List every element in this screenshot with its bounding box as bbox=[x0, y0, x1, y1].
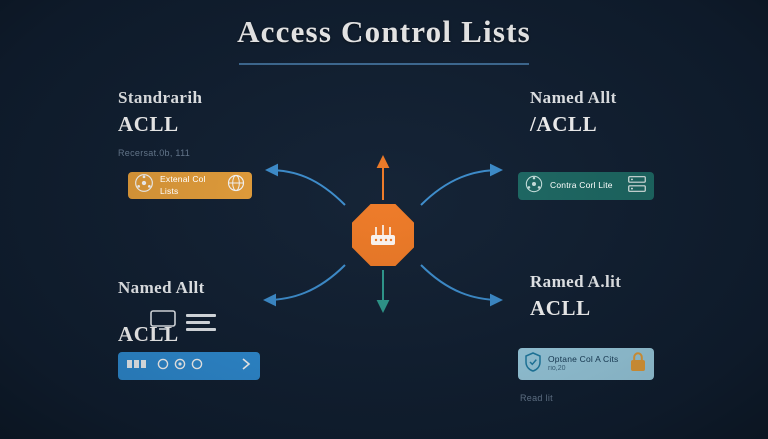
page-title: Access Control Lists bbox=[0, 14, 768, 50]
chevron-right-icon bbox=[240, 357, 252, 376]
quadrant-tr-heading: Named Allt bbox=[530, 88, 768, 108]
card-control-list[interactable]: Contra Corl Lite bbox=[518, 172, 654, 200]
card-optane-control-list[interactable]: Optane Col A Cits rio,20 bbox=[518, 348, 654, 380]
card-tl-label: Extenal Col Lists bbox=[160, 174, 220, 197]
globe-icon bbox=[226, 173, 246, 198]
port-indicator-icon bbox=[157, 357, 209, 376]
list-lines-icon bbox=[186, 314, 216, 331]
quadrant-named-acl-top: Named Allt /ACLL bbox=[530, 88, 768, 137]
lock-icon bbox=[628, 351, 648, 378]
quadrant-br-note: Read lit bbox=[520, 393, 553, 403]
network-node-icon bbox=[134, 173, 154, 198]
card-network-switch[interactable] bbox=[118, 352, 260, 380]
quadrant-tl-subheading: ACLL bbox=[118, 112, 418, 137]
quadrant-tl-heading: Standrarih bbox=[118, 88, 418, 108]
card-br-sublabel: rio,20 bbox=[548, 365, 619, 374]
device-group-bottom-left bbox=[150, 310, 216, 335]
title-underline bbox=[239, 63, 529, 65]
network-switch-icon bbox=[126, 357, 148, 376]
card-tr-label: Contra Corl Lite bbox=[550, 180, 613, 191]
card-external-control-lists[interactable]: Extenal Col Lists bbox=[128, 172, 252, 199]
quadrant-named-acl-right: Ramed A.lit ACLL bbox=[530, 272, 768, 321]
quadrant-tl-note: Recersat.0b, 111 bbox=[118, 148, 418, 158]
quadrant-bl-heading: Named Allt bbox=[118, 278, 418, 298]
quadrant-br-heading: Ramed A.lit bbox=[530, 272, 768, 292]
router-icon bbox=[352, 204, 414, 266]
monitor-icon bbox=[150, 310, 176, 335]
quadrant-tr-subheading: /ACLL bbox=[530, 112, 768, 137]
network-node-icon bbox=[524, 174, 544, 199]
shield-icon bbox=[524, 352, 542, 377]
card-br-label: Optane Col A Cits bbox=[548, 354, 619, 365]
diagram-canvas: Access Control Lists Standrarih A bbox=[0, 0, 768, 439]
router-device[interactable] bbox=[352, 204, 414, 266]
server-icon bbox=[626, 173, 648, 200]
quadrant-standard-acl: Standrarih ACLL Recersat.0b, 111 bbox=[118, 88, 418, 158]
quadrant-br-subheading: ACLL bbox=[530, 296, 768, 321]
